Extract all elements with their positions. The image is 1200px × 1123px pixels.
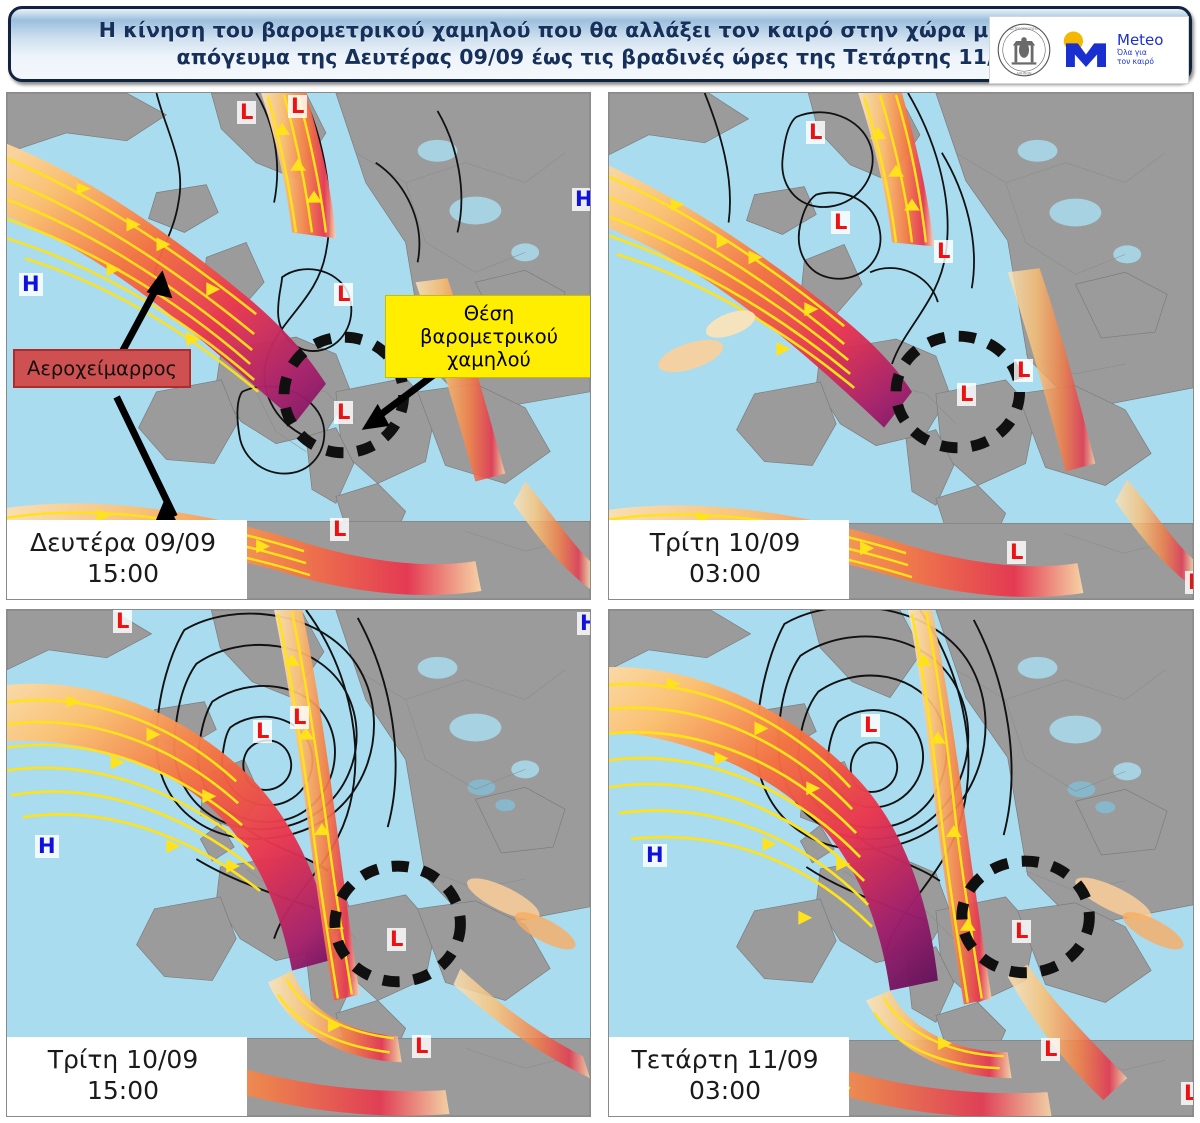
low-pressure-marker: L: [113, 610, 132, 633]
meteo-m-logo-icon: [1060, 30, 1112, 70]
low-pressure-marker: L: [412, 1035, 431, 1058]
panel-day-4: Τετάρτη 11/09: [623, 1045, 827, 1076]
panel-date-label-4: Τετάρτη 11/09 03:00: [609, 1037, 849, 1116]
panel-day-2: Τρίτη 10/09: [623, 528, 827, 559]
high-pressure-marker: H: [643, 844, 667, 867]
low-pressure-marker: L: [1041, 1038, 1060, 1061]
panel-time-4: 03:00: [623, 1076, 827, 1107]
panel-time-1: 15:00: [21, 559, 225, 590]
forecast-panel-4[interactable]: L L L L H Τετάρτη 11/09 03:00: [608, 609, 1194, 1117]
low-pressure-marker: L: [1185, 571, 1194, 594]
panel-date-label-1: Δευτέρα 09/09 15:00: [7, 520, 247, 599]
low-pressure-marker: L: [957, 383, 976, 406]
low-pressure-marker: L: [387, 928, 406, 951]
annotation-jet-stream-label: Αεροχείμαρρος: [27, 357, 177, 380]
panel-day-3: Τρίτη 10/09: [21, 1045, 225, 1076]
high-pressure-marker: H: [577, 612, 591, 635]
low-pressure-marker: L: [861, 714, 880, 737]
low-pressure-marker: L: [1007, 541, 1026, 564]
high-pressure-marker: H: [35, 835, 59, 858]
logo-container: ΑΣΤΕΡΟΣΚΟΠΕΙΟ ΑΘΗΝΩΝ Meteo Όλα για τον κ…: [989, 16, 1189, 84]
weather-infographic: Η κίνηση του βαρομετρικού χαμηλού που θα…: [0, 0, 1200, 1123]
meteo-wordmark: Meteo Όλα για τον καιρό: [1117, 33, 1163, 66]
page-title: Η κίνηση του βαρομετρικού χαμηλού που θα…: [73, 17, 1128, 71]
low-pressure-marker: L: [1014, 359, 1033, 382]
panel-date-label-2: Τρίτη 10/09 03:00: [609, 520, 849, 599]
title-line-1: Η κίνηση του βαρομετρικού χαμηλού που θα…: [99, 18, 1102, 42]
low-pressure-marker: L: [237, 101, 256, 124]
annotation-low-position-line2: χαμηλού: [447, 348, 531, 371]
forecast-panel-3[interactable]: L L L L L H H Τρίτη 10/09 15:00: [6, 609, 591, 1117]
annotation-low-position-line1: Θέση βαρομετρικού: [420, 302, 558, 348]
high-pressure-marker: H: [19, 273, 43, 296]
title-line-2: απόγευμα της Δευτέρας 09/09 έως τις βραδ…: [177, 45, 1024, 69]
meteo-tagline-line2: τον καιρό: [1117, 58, 1163, 67]
panel-day-1: Δευτέρα 09/09: [21, 528, 225, 559]
svg-text:ΑΣΤΕΡΟΣΚΟΠΕΙΟ: ΑΣΤΕΡΟΣΚΟΠΕΙΟ: [1010, 27, 1039, 31]
low-pressure-marker: L: [253, 720, 272, 743]
high-pressure-marker: H: [572, 188, 591, 211]
meteo-brand-name: Meteo: [1117, 33, 1163, 49]
annotation-low-position: Θέση βαρομετρικού χαμηλού: [385, 295, 591, 378]
panel-time-2: 03:00: [623, 559, 827, 590]
forecast-panel-1[interactable]: Θέση βαρομετρικού χαμηλού Αεροχείμαρρος …: [6, 92, 591, 600]
svg-text:ΑΘΗΝΩΝ: ΑΘΗΝΩΝ: [1016, 72, 1032, 76]
low-pressure-marker: L: [1181, 1082, 1194, 1105]
panel-date-label-3: Τρίτη 10/09 15:00: [7, 1037, 247, 1116]
low-pressure-marker: L: [934, 240, 953, 263]
low-pressure-marker: L: [330, 518, 349, 541]
low-pressure-marker: L: [334, 283, 353, 306]
panel-time-3: 15:00: [21, 1076, 225, 1107]
national-observatory-seal-icon: ΑΣΤΕΡΟΣΚΟΠΕΙΟ ΑΘΗΝΩΝ: [996, 22, 1052, 78]
low-pressure-marker: L: [334, 401, 353, 424]
low-pressure-marker: L: [1012, 920, 1031, 943]
low-pressure-marker: L: [288, 95, 307, 118]
forecast-panel-grid: Θέση βαρομετρικού χαμηλού Αεροχείμαρρος …: [0, 88, 1200, 1123]
meteo-brand-mark: Meteo Όλα για τον καιρό: [1060, 30, 1163, 70]
low-pressure-marker: L: [290, 706, 309, 729]
forecast-panel-2[interactable]: L L L L L L L Τρίτη 10/09 03:00: [608, 92, 1194, 600]
low-pressure-marker: L: [831, 211, 850, 234]
annotation-jet-stream: Αεροχείμαρρος: [13, 349, 191, 388]
low-pressure-marker: L: [806, 121, 825, 144]
